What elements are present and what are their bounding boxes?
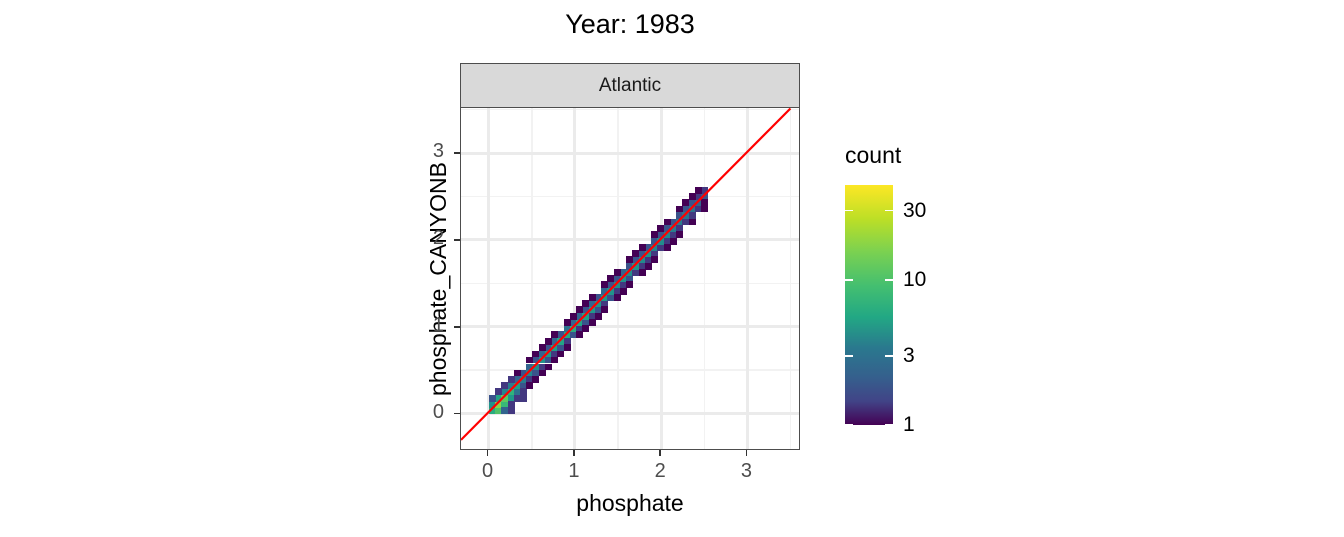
legend-tick-label: 10 [903,268,926,292]
bin-cell [582,313,589,320]
bin-cell [651,256,658,263]
facet-strip: Atlantic [460,63,800,108]
bin-cell [557,338,564,345]
bin-cell [526,382,533,389]
bin-cell [632,263,639,270]
plot-panel-inner [461,108,799,449]
bin-cell [501,382,508,389]
legend-tick-label: 3 [903,344,915,368]
bin-cell [601,306,608,313]
bin-cell [601,281,608,288]
legend-tick-mark [845,279,853,281]
legend-tick-mark [885,279,893,281]
bin-cell [545,338,552,345]
legend-tick-mark [885,424,893,426]
y-axis-tick-mark [454,326,460,328]
bin-cell [689,219,696,226]
legend-tick-mark [845,210,853,212]
bin-cell [539,370,546,377]
gridline-horizontal [461,325,799,328]
bin-cell [545,364,552,371]
bin-cell [532,364,539,371]
x-axis-tick-label: 1 [554,460,594,483]
bin-cell [514,370,521,377]
bin-cell [607,281,614,288]
bin-cell [645,263,652,270]
y-axis-tick-label: 2 [404,227,444,250]
bin-cell [489,395,496,402]
plot-panel [460,108,800,450]
bin-cell [557,331,564,338]
bin-cell [564,344,571,351]
bin-cell [657,231,664,238]
bin-cell [576,306,583,313]
y-axis-tick-mark [454,239,460,241]
bin-cell [501,407,508,414]
x-axis-tick-label: 3 [726,460,766,483]
bin-cell [632,250,639,257]
bin-cell [657,225,664,232]
legend-colorbar-gradient [845,185,893,425]
y-axis-tick-label: 3 [404,140,444,163]
gridline-vertical [704,108,706,449]
bin-cell [676,231,683,238]
bin-cell [701,199,708,206]
bin-cell [532,351,539,358]
x-axis-title: phosphate [460,490,800,517]
y-axis-tick-mark [454,152,460,154]
bin-cell [651,231,658,238]
gridline-horizontal [461,238,799,241]
gridline-vertical [660,108,663,449]
bin-cell [589,319,596,326]
bin-cell [595,313,602,320]
bin-cell [526,357,533,364]
bin-cell [664,219,671,226]
bin-cell [582,306,589,313]
bin-cell [576,331,583,338]
bin-cell [501,395,508,402]
y-axis-tick-label: 0 [404,401,444,424]
bin-cell [676,206,683,213]
bin-cell [657,244,664,251]
bin-cell [682,219,689,226]
x-axis-tick-mark [573,450,575,456]
legend-tick-mark [885,355,893,357]
chart-root: Year: 1983 Atlantic phosphate_CANYONB ph… [0,0,1344,537]
bin-cell [582,300,589,307]
legend-colorbar [845,185,893,425]
bin-cell [508,376,515,383]
legend-tick-mark [885,210,893,212]
bin-cell [701,206,708,213]
x-axis-tick-mark [746,450,748,456]
bin-cell [532,376,539,383]
bin-cell [532,357,539,364]
gridline-horizontal [461,152,799,155]
bin-cell [695,187,702,194]
x-axis-tick-mark [487,450,489,456]
legend-tick-label: 1 [903,413,915,437]
gridline-vertical [573,108,576,449]
bin-cell [701,187,708,194]
x-axis-tick-mark [659,450,661,456]
legend-title: count [845,142,901,169]
bin-cell [557,351,564,358]
bin-cell [495,388,502,395]
bin-cell [589,294,596,301]
bin-cell [614,294,621,301]
bin-cell [607,294,614,301]
bin-cell [564,319,571,326]
bin-cell [632,269,639,276]
legend-tick-label: 30 [903,199,926,223]
bin-cell [607,288,614,295]
bin-cell [689,193,696,200]
bin-cell [639,269,646,276]
gridline-vertical [531,108,533,449]
chart-title: Year: 1983 [460,8,800,40]
legend: count 301031 [845,142,985,442]
bin-cell [570,313,577,320]
bin-cell [626,281,633,288]
y-axis-tick-label: 1 [404,314,444,337]
gridline-vertical [790,108,792,449]
bin-cell [551,357,558,364]
bin-cell [682,212,689,219]
bin-cell [582,325,589,332]
bin-cell [607,275,614,282]
bin-cell [539,344,546,351]
bin-cell [551,331,558,338]
y-axis-tick-mark [454,413,460,415]
bin-cell [508,407,515,414]
bin-cell [614,269,621,276]
bin-cell [682,206,689,213]
bin-cell [670,238,677,245]
x-axis-tick-label: 0 [468,460,508,483]
legend-tick-mark [845,424,853,426]
bin-cell [639,244,646,251]
bin-cell [626,256,633,263]
bin-cell [520,388,527,395]
gridline-vertical [746,108,749,449]
legend-tick-mark [845,355,853,357]
bin-cell [657,238,664,245]
bin-cell [682,199,689,206]
bin-cell [620,288,627,295]
x-axis-tick-label: 2 [640,460,680,483]
bin-cell [501,388,508,395]
bin-cell [664,244,671,251]
facet-strip-label: Atlantic [461,64,799,107]
bin-cell [632,256,639,263]
bin-cell [520,395,527,402]
